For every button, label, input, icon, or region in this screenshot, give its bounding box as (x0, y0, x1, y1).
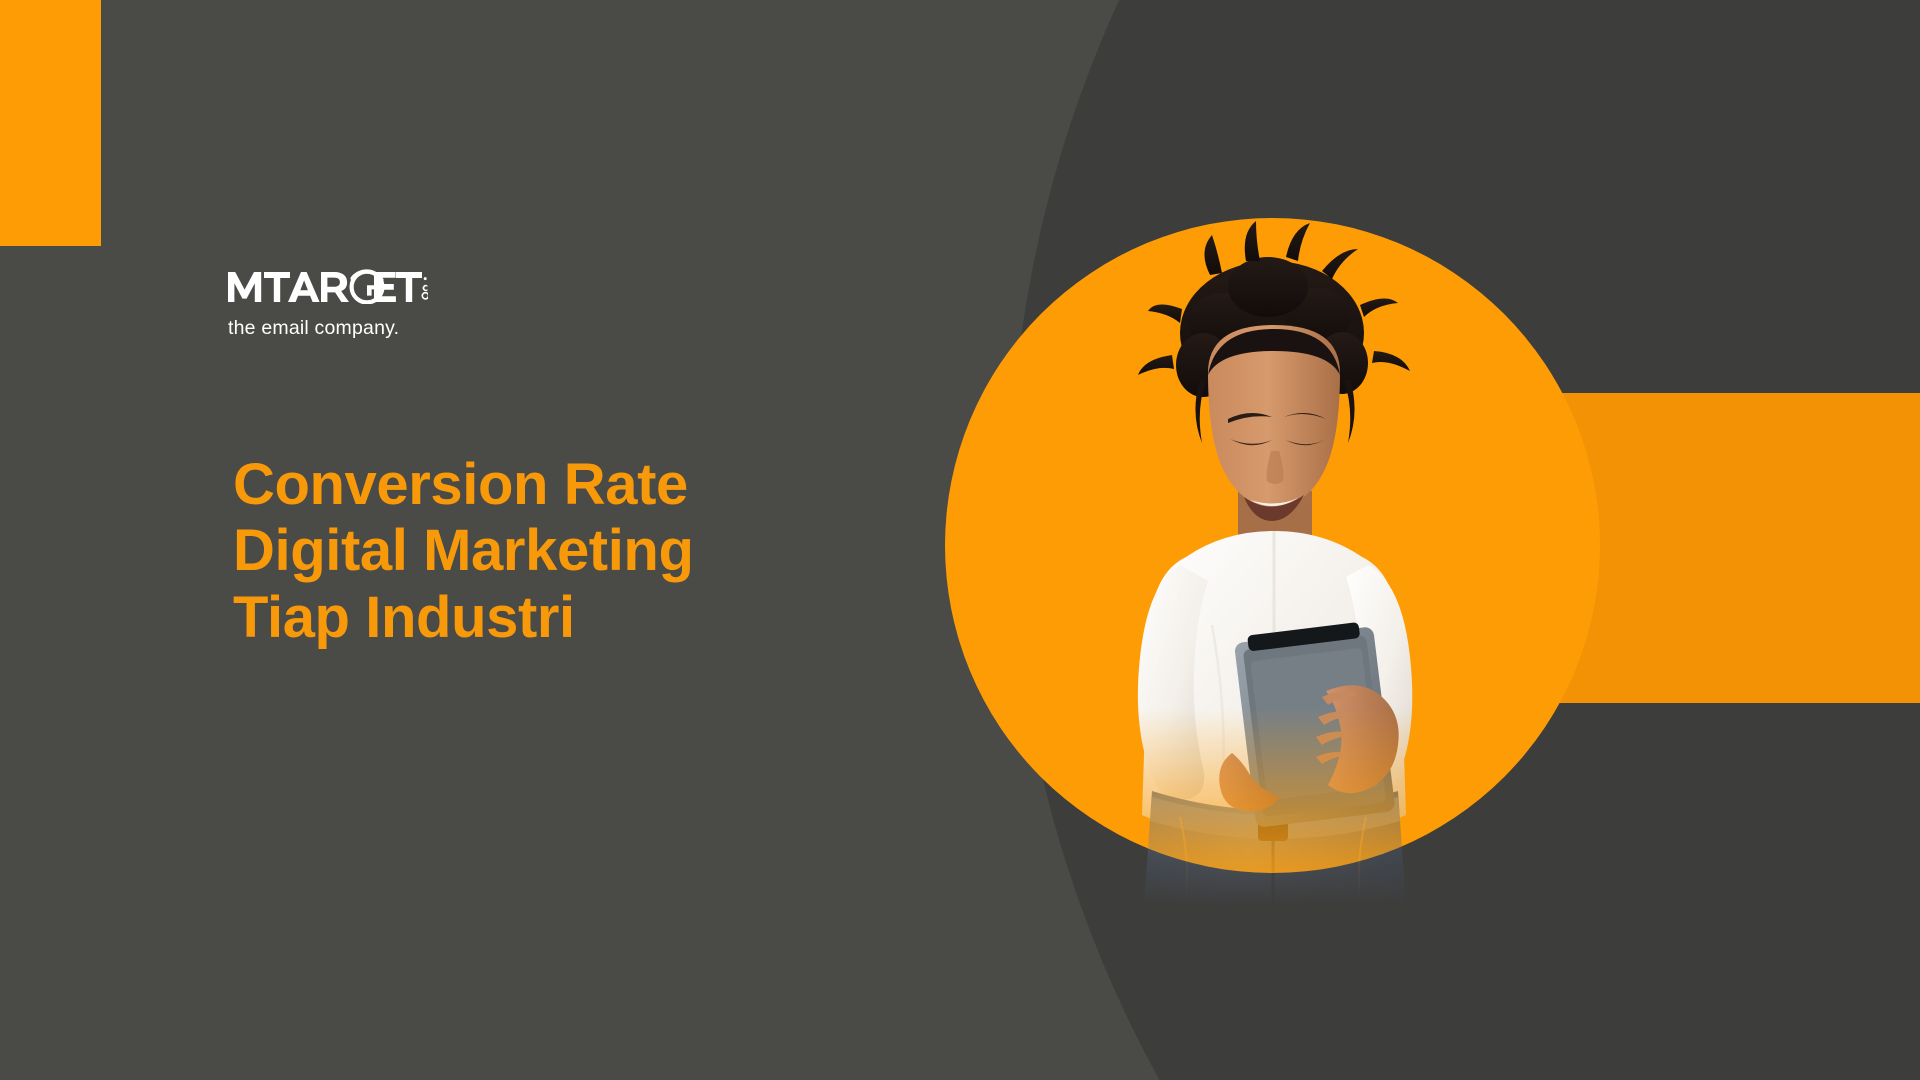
headline-line-2: Digital Marketing (233, 518, 953, 584)
page-title: Conversion Rate Digital Marketing Tiap I… (233, 452, 953, 651)
headline-line-3: Tiap Industri (233, 585, 953, 651)
mtarget-wordmark-icon (228, 262, 428, 304)
brand-logo: the email company. (228, 262, 458, 340)
hero-photo (1060, 205, 1490, 905)
headline-line-1: Conversion Rate (233, 452, 953, 518)
banner-canvas: the email company. Conversion Rate Digit… (0, 0, 1920, 1080)
brand-tagline: the email company. (228, 317, 458, 340)
orange-corner-block (0, 0, 101, 246)
